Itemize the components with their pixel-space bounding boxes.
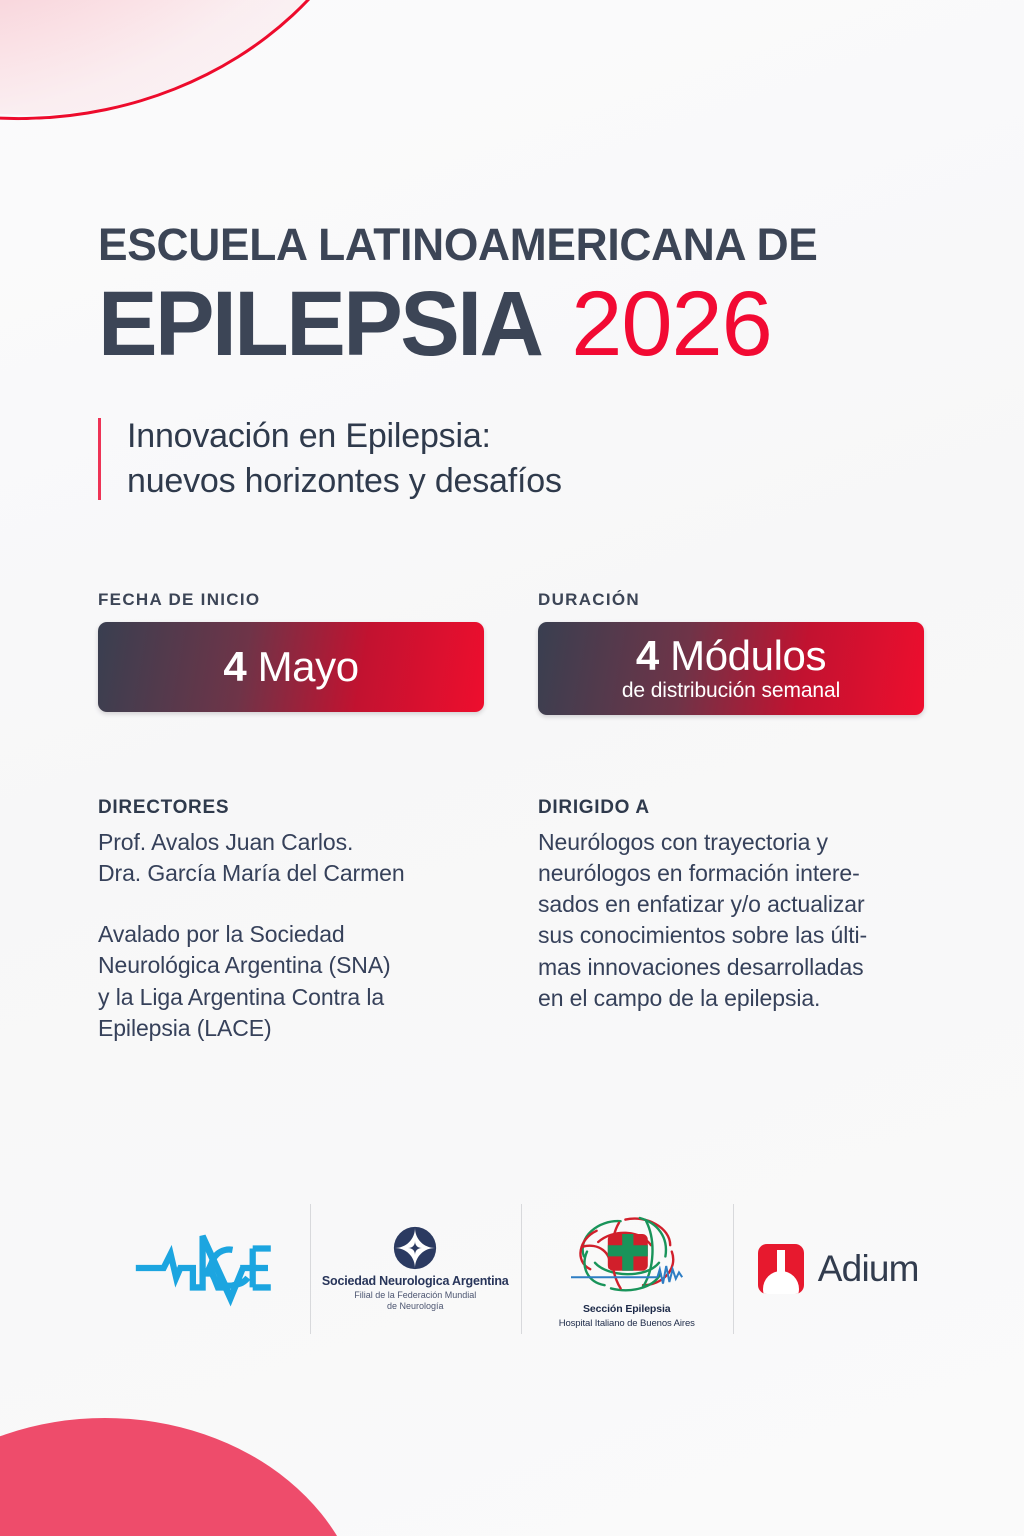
detail-columns: DIRECTORES Prof. Avalos Juan Carlos. Dra… [98, 797, 926, 1045]
subtitle-line-1: Innovación en Epilepsia: [127, 414, 562, 459]
subtitle-block: Innovación en Epilepsia: nuevos horizont… [98, 414, 926, 504]
start-date-number: 4 [223, 643, 246, 690]
adium-logo-name: Adium [818, 1248, 919, 1290]
directors-column: DIRECTORES Prof. Avalos Juan Carlos. Dra… [98, 797, 484, 1045]
start-date-value: 4 Mayo [223, 645, 358, 689]
duration-unit: Módulos [670, 632, 826, 679]
poster-root: ESCUELA LATINOAMERICANA DE EPILEPSIA2026… [0, 0, 1024, 1536]
title-year: 2026 [571, 273, 772, 375]
subtitle-text: Innovación en Epilepsia: nuevos horizont… [127, 414, 562, 504]
duration-block: DURACIÓN 4 Módulos de distribución seman… [538, 590, 924, 715]
directors-names: Prof. Avalos Juan Carlos. Dra. García Ma… [98, 827, 484, 890]
audience-body: Neurólogos con trayectoria y neurólogos … [538, 827, 924, 1015]
adium-mark-icon [758, 1244, 804, 1294]
logo-cell-hospital-italiano: Sección Epilepsia Hospital Italiano de B… [521, 1194, 733, 1344]
duration-subtext: de distribución semanal [622, 679, 840, 703]
duration-value: 4 Módulos [636, 634, 826, 678]
start-date-month: Mayo [258, 643, 359, 690]
start-date-block: FECHA DE INICIO 4 Mayo [98, 590, 484, 715]
lace-logo-icon [134, 1229, 274, 1309]
logo-cell-lace [98, 1194, 310, 1344]
start-date-label: FECHA DE INICIO [98, 590, 484, 610]
title-line-school: ESCUELA LATINOAMERICANA DE [98, 222, 914, 268]
duration-badge: 4 Módulos de distribución semanal [538, 622, 924, 715]
sna-logo-subtitle: Filial de la Federación Mundial de Neuro… [310, 1290, 520, 1313]
logo-cell-sna: Sociedad Neurologica Argentina Filial de… [310, 1194, 522, 1344]
duration-label: DURACIÓN [538, 590, 924, 610]
directors-heading: DIRECTORES [98, 797, 484, 819]
info-badges-row: FECHA DE INICIO 4 Mayo DURACIÓN 4 Módulo… [98, 590, 926, 715]
audience-column: DIRIGIDO A Neurólogos con trayectoria y … [538, 797, 924, 1045]
start-date-badge: 4 Mayo [98, 622, 484, 712]
duration-number: 4 [636, 632, 659, 679]
subtitle-accent-bar [98, 418, 101, 500]
hospital-italiano-name: Hospital Italiano de Buenos Aires [544, 1318, 709, 1329]
audience-heading: DIRIGIDO A [538, 797, 924, 819]
sna-emblem-icon [393, 1226, 437, 1270]
subtitle-line-2: nuevos horizontes y desafíos [127, 459, 562, 504]
page-title: ESCUELA LATINOAMERICANA DE EPILEPSIA2026 [98, 0, 926, 370]
logo-cell-adium: Adium [733, 1194, 945, 1344]
title-line-main: EPILEPSIA2026 [98, 278, 926, 370]
sna-logo-name: Sociedad Neurologica Argentina [310, 1274, 520, 1288]
hospital-italiano-brain-cross-icon [563, 1210, 691, 1298]
title-epilepsia: EPILEPSIA [98, 278, 541, 370]
directors-endorsement: Avalado por la Sociedad Neurológica Arge… [98, 919, 484, 1044]
sponsor-logos-footer: Sociedad Neurologica Argentina Filial de… [98, 1194, 944, 1344]
hospital-italiano-section: Sección Epilepsia [544, 1303, 709, 1315]
